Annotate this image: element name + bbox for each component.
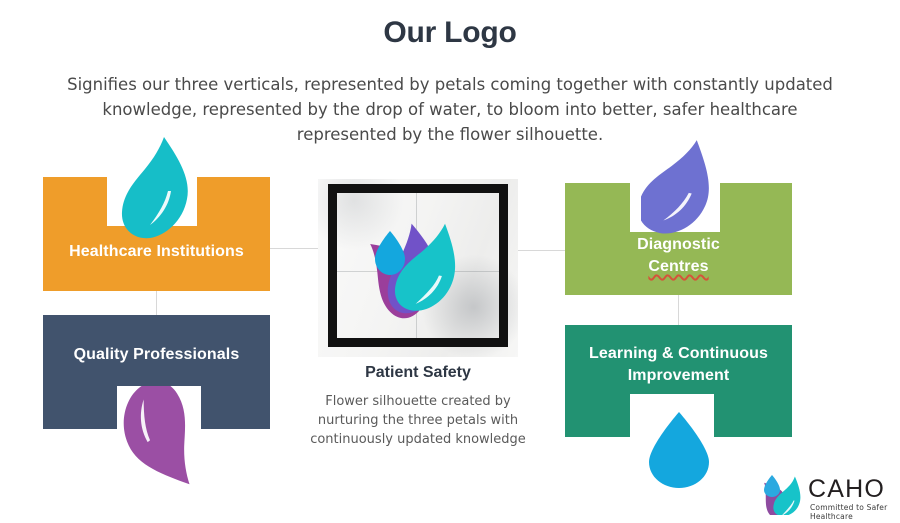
violet-petal-icon <box>641 136 723 238</box>
connector-left-vertical <box>156 291 157 315</box>
water-drop-icon <box>375 231 405 275</box>
brand-name: CAHO <box>808 475 885 504</box>
brand-tagline: Committed to Safer Healthcare <box>810 503 892 521</box>
caho-logo-mark <box>760 473 806 515</box>
water-drop-icon <box>764 475 780 497</box>
connector-left-horizontal <box>270 248 325 249</box>
vertical-card-label-line1: Diagnostic <box>637 236 720 253</box>
caho-brand-logo: CAHO Committed to Safer Healthcare <box>760 473 892 517</box>
purple-petal-icon <box>118 386 204 491</box>
caption-title: Patient Safety <box>318 364 518 382</box>
connector-right-vertical <box>678 295 679 325</box>
blue-water-drop-icon <box>647 410 711 490</box>
slide-canvas: Our Logo Signifies our three verticals, … <box>0 0 900 523</box>
caho-flower-logo <box>360 217 480 327</box>
vertical-card-label-line2-misspelled: Centres <box>648 258 708 275</box>
vertical-card-label: Learning & Continuous Improvement <box>565 343 792 419</box>
connector-right-horizontal <box>512 250 565 251</box>
patient-safety-photo-card[interactable] <box>318 179 518 357</box>
page-title: Our Logo <box>0 16 900 50</box>
teal-petal-icon <box>119 135 191 240</box>
caption-body: Flower silhouette created by nurturing t… <box>310 392 526 449</box>
